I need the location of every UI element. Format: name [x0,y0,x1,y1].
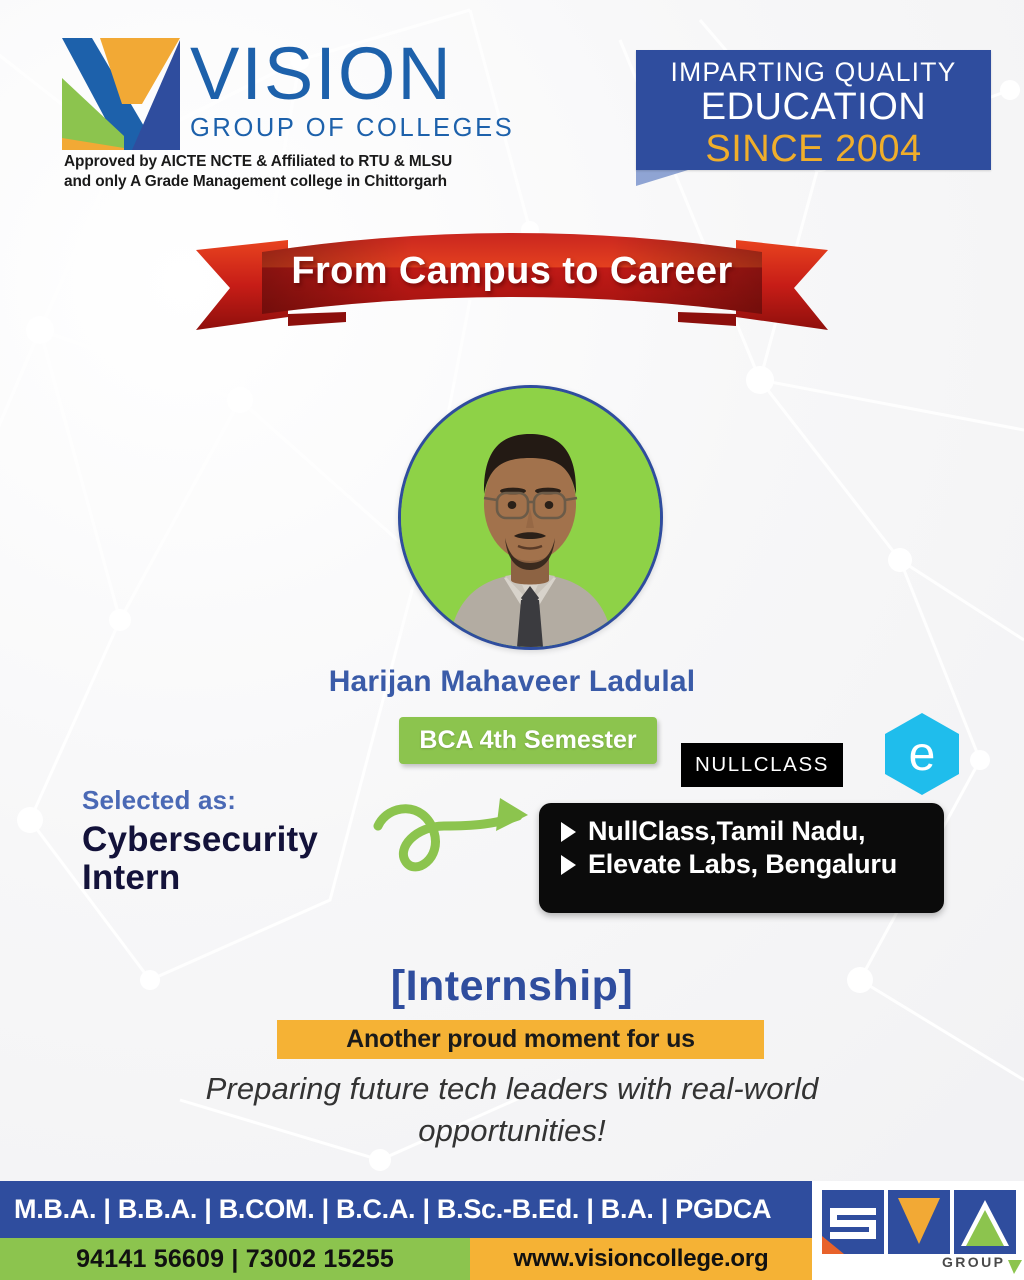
vision-v-mark-icon [62,38,180,150]
footer-website-bar[interactable]: www.visioncollege.org [470,1238,812,1280]
tagline: Preparing future tech leaders with real-… [0,1068,1024,1152]
curly-arrow-icon [372,792,552,884]
proud-note-badge: Another proud moment for us [277,1020,764,1059]
accreditation-text: Approved by AICTE NCTE & Affiliated to R… [64,152,452,193]
tagline-line-2: opportunities! [0,1110,1024,1152]
quality-badge: IMPARTING QUALITY EDUCATION SINCE 2004 [636,50,991,170]
poster-canvas: VISION GROUP OF COLLEGES Approved by AIC… [0,0,1024,1280]
elevate-labs-hexagon-icon: e [878,710,966,798]
svg-text:e: e [909,728,936,781]
footer-phone-text: 94141 56609 | 73002 15255 [76,1245,394,1274]
bullet-triangle-icon [561,855,576,875]
selected-as-label: Selected as: [82,785,318,816]
company-list-item: Elevate Labs, Bengaluru [561,849,944,880]
student-photo [398,385,663,650]
footer-phone-bar: 94141 56609 | 73002 15255 [0,1238,470,1280]
logo-tagline: GROUP OF COLLEGES [190,114,514,143]
footer-website-text[interactable]: www.visioncollege.org [514,1245,769,1273]
sva-group-subtitle: GROUP [942,1254,1005,1270]
nullclass-logo: NULLCLASS [681,743,843,787]
quality-badge-line-2: EDUCATION [636,88,991,128]
accreditation-line-2: and only A Grade Management college in C… [64,172,452,192]
ribbon-text: From Campus to Career [196,250,828,293]
role-line-2: Intern [82,859,318,897]
accreditation-line-1: Approved by AICTE NCTE & Affiliated to R… [64,152,452,172]
selection-block: Selected as: Cybersecurity Intern [82,785,318,897]
role-line-1: Cybersecurity [82,821,318,859]
company-name-2: Elevate Labs, Bengaluru [588,849,897,880]
footer-courses-text: M.B.A. | B.B.A. | B.COM. | B.C.A. | B.Sc… [0,1194,771,1225]
tagline-line-1: Preparing future tech leaders with real-… [0,1068,1024,1110]
announcement-type: [Internship] [0,962,1024,1011]
logo-wordmark: VISION [190,44,514,105]
student-name: Harijan Mahaveer Ladulal [0,665,1024,699]
quality-badge-line-1: IMPARTING QUALITY [636,57,991,87]
nullclass-logo-text: NULLCLASS [695,753,829,777]
college-logo: VISION GROUP OF COLLEGES [62,38,514,150]
quality-badge-line-3: SINCE 2004 [636,130,991,170]
ribbon-banner: From Campus to Career [196,222,828,337]
program-badge: BCA 4th Semester [399,717,657,764]
header: VISION GROUP OF COLLEGES Approved by AIC… [0,0,1024,200]
bullet-triangle-icon [561,822,576,842]
company-name-1: NullClass,Tamil Nadu, [588,816,865,847]
company-list-item: NullClass,Tamil Nadu, [561,816,944,847]
companies-box: NullClass,Tamil Nadu, Elevate Labs, Beng… [539,803,944,913]
quality-badge-tail [636,170,688,186]
footer-courses-bar: M.B.A. | B.B.A. | B.COM. | B.C.A. | B.Sc… [0,1181,812,1238]
